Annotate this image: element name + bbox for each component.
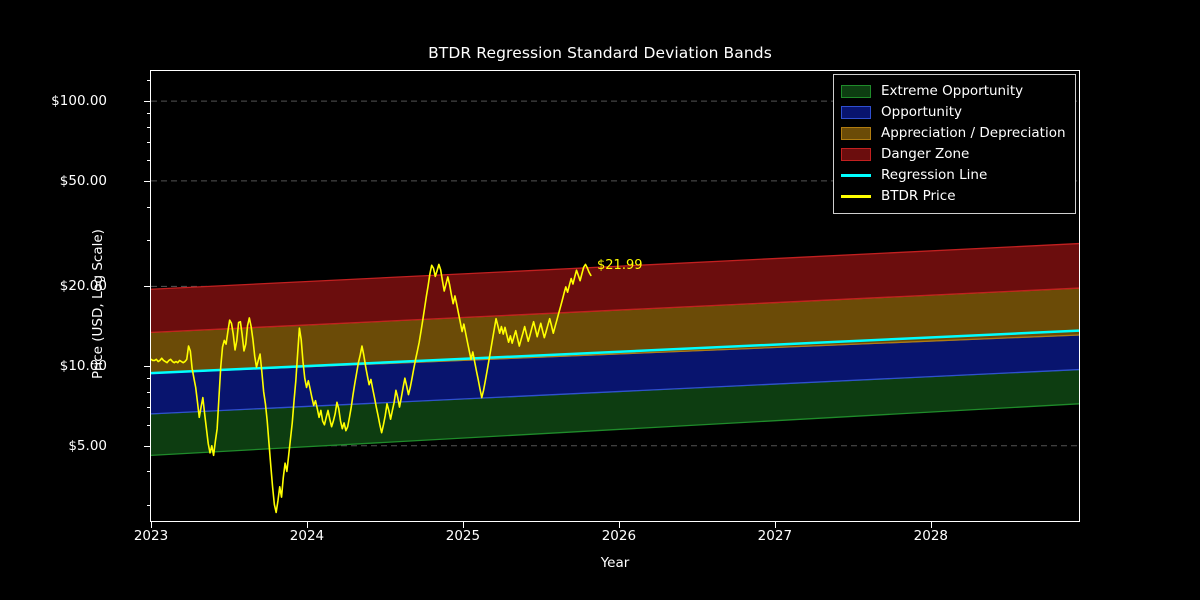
x-tick-label: 2026 [602, 528, 636, 544]
y-tick-label: $10.00 [60, 358, 107, 374]
x-tick-mark [307, 522, 308, 528]
x-tick-mark [619, 522, 620, 528]
legend-label: Appreciation / Depreciation [881, 127, 1066, 141]
y-tick-label: $20.00 [60, 278, 107, 294]
legend-line-swatch [841, 190, 871, 203]
x-tick-label: 2023 [134, 528, 168, 544]
y-tick-label: $50.00 [60, 173, 107, 189]
legend-item[interactable]: Danger Zone [841, 144, 1066, 165]
y-axis-label: Price (USD, Log Scale) [90, 78, 106, 530]
legend-item[interactable]: Extreme Opportunity [841, 81, 1066, 102]
legend-swatch [841, 127, 871, 140]
x-axis-label: Year [150, 555, 1080, 571]
x-tick-label: 2028 [914, 528, 948, 544]
x-tick-label: 2027 [758, 528, 792, 544]
y-tick-label: $100.00 [51, 93, 107, 109]
legend-item[interactable]: Opportunity [841, 102, 1066, 123]
x-tick-mark [775, 522, 776, 528]
legend-swatch [841, 148, 871, 161]
price-annotation: $21.99 [597, 258, 643, 273]
legend-label: BTDR Price [881, 190, 956, 204]
legend-swatch [841, 106, 871, 119]
x-tick-label: 2025 [446, 528, 480, 544]
legend-label: Danger Zone [881, 148, 969, 162]
legend-label: Regression Line [881, 169, 987, 183]
x-tick-mark [463, 522, 464, 528]
x-tick-label: 2024 [290, 528, 324, 544]
legend-item[interactable]: Regression Line [841, 165, 1066, 186]
x-tick-mark [151, 522, 152, 528]
legend-item[interactable]: Appreciation / Depreciation [841, 123, 1066, 144]
legend-item[interactable]: BTDR Price [841, 186, 1066, 207]
chart-figure: BTDR Regression Standard Deviation Bands… [0, 0, 1200, 600]
y-tick-label: $5.00 [68, 438, 107, 454]
legend-line-swatch [841, 169, 871, 182]
legend-swatch [841, 85, 871, 98]
y-axis-label-wrapper: Price (USD, Log Scale) [62, 70, 80, 522]
chart-title: BTDR Regression Standard Deviation Bands [0, 44, 1200, 62]
legend-label: Extreme Opportunity [881, 85, 1023, 99]
chart-legend: Extreme OpportunityOpportunityAppreciati… [833, 74, 1076, 214]
x-tick-mark [931, 522, 932, 528]
legend-label: Opportunity [881, 106, 962, 120]
